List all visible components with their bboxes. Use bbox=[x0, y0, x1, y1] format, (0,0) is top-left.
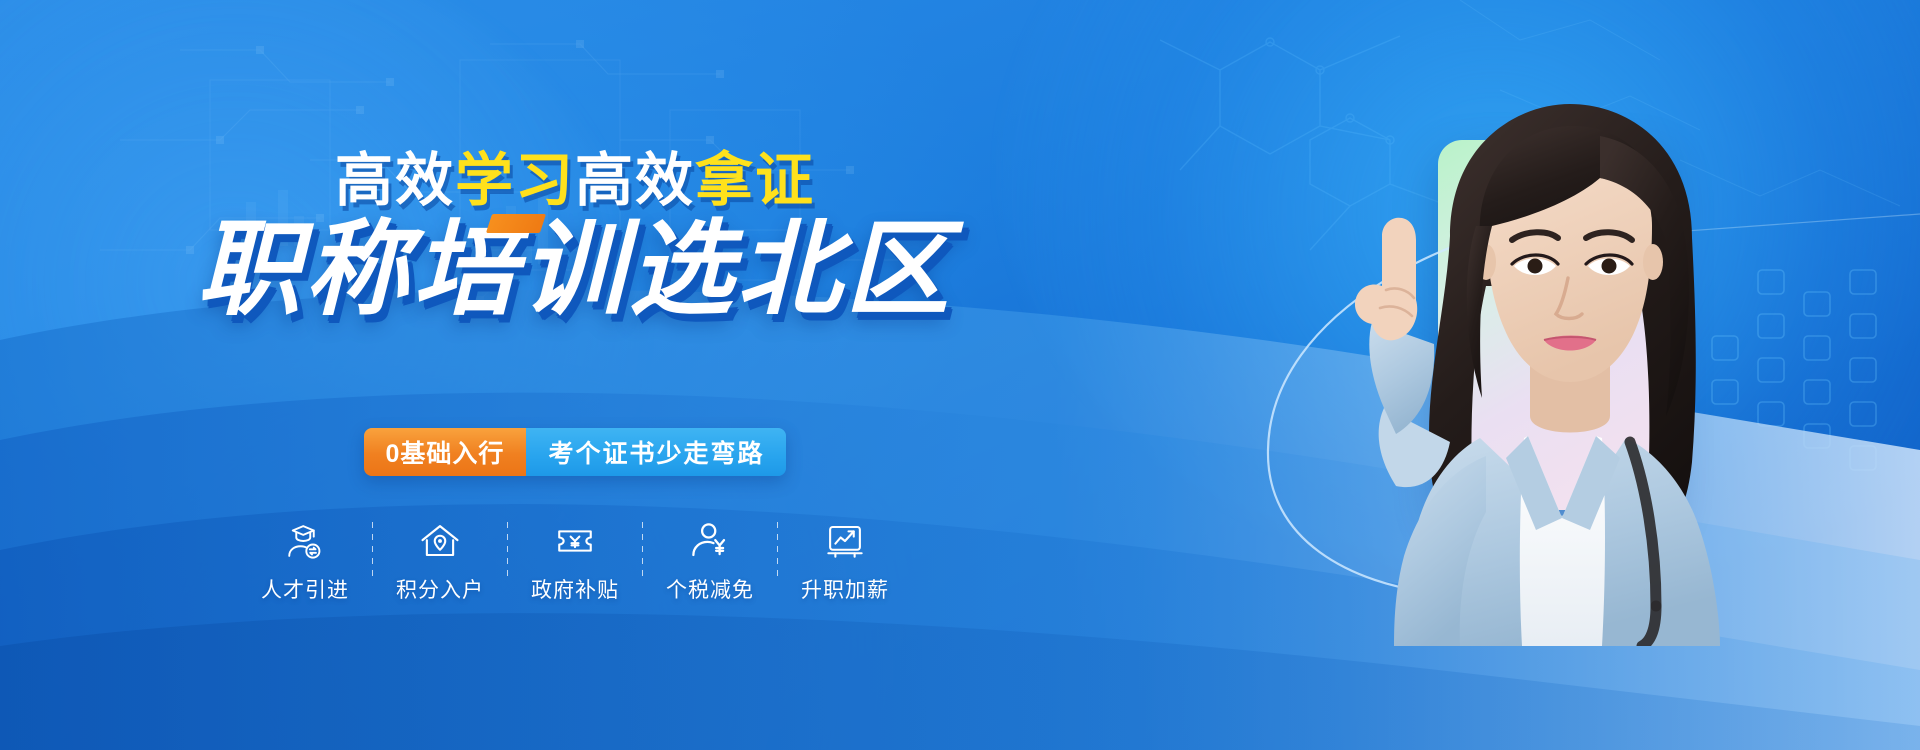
chart-board-icon bbox=[824, 520, 866, 562]
hero-illustration bbox=[1090, 0, 1920, 750]
orange-accent-stroke-icon bbox=[486, 214, 546, 233]
person-photo bbox=[1300, 86, 1820, 646]
feature-item-promotion[interactable]: 升职加薪 bbox=[778, 520, 912, 604]
feature-item-subsidy[interactable]: 政府补贴 bbox=[508, 520, 642, 604]
feature-list: 人才引进 积分入户 bbox=[0, 520, 1150, 604]
feature-item-talent[interactable]: 人才引进 bbox=[238, 520, 372, 604]
feature-label-tax: 个税减免 bbox=[666, 574, 754, 604]
feature-label-talent: 人才引进 bbox=[261, 574, 349, 604]
headline-segment-2: 学习 bbox=[455, 148, 575, 213]
main-title: 职称培训选北区 bbox=[197, 218, 953, 322]
promo-banner: 高效学习高效拿证 职称培训选北区 0基础入行 考个证书少走弯路 bbox=[0, 0, 1920, 750]
house-location-icon bbox=[419, 520, 461, 562]
subtitle-badge-row: 0基础入行 考个证书少走弯路 bbox=[0, 428, 1150, 476]
main-title-wrapper: 职称培训选北区 bbox=[0, 218, 1150, 322]
subtitle-badge[interactable]: 0基础入行 考个证书少走弯路 bbox=[364, 428, 787, 476]
person-yuan-icon bbox=[689, 520, 731, 562]
headline: 高效学习高效拿证 bbox=[0, 152, 1150, 210]
banner-content: 高效学习高效拿证 职称培训选北区 0基础入行 考个证书少走弯路 bbox=[0, 0, 1150, 750]
feature-item-residency[interactable]: 积分入户 bbox=[373, 520, 507, 604]
headline-segment-3: 高效 bbox=[575, 148, 695, 213]
feature-item-tax[interactable]: 个税减免 bbox=[643, 520, 777, 604]
graduate-talent-icon bbox=[284, 520, 326, 562]
feature-label-residency: 积分入户 bbox=[396, 574, 484, 604]
badge-left-label: 0基础入行 bbox=[364, 428, 527, 476]
feature-label-promotion: 升职加薪 bbox=[801, 574, 889, 604]
voucher-yuan-icon bbox=[554, 520, 596, 562]
headline-segment-4: 拿证 bbox=[695, 148, 815, 213]
badge-right-label: 考个证书少走弯路 bbox=[526, 428, 786, 476]
feature-label-subsidy: 政府补贴 bbox=[531, 574, 619, 604]
headline-segment-1: 高效 bbox=[335, 148, 455, 213]
